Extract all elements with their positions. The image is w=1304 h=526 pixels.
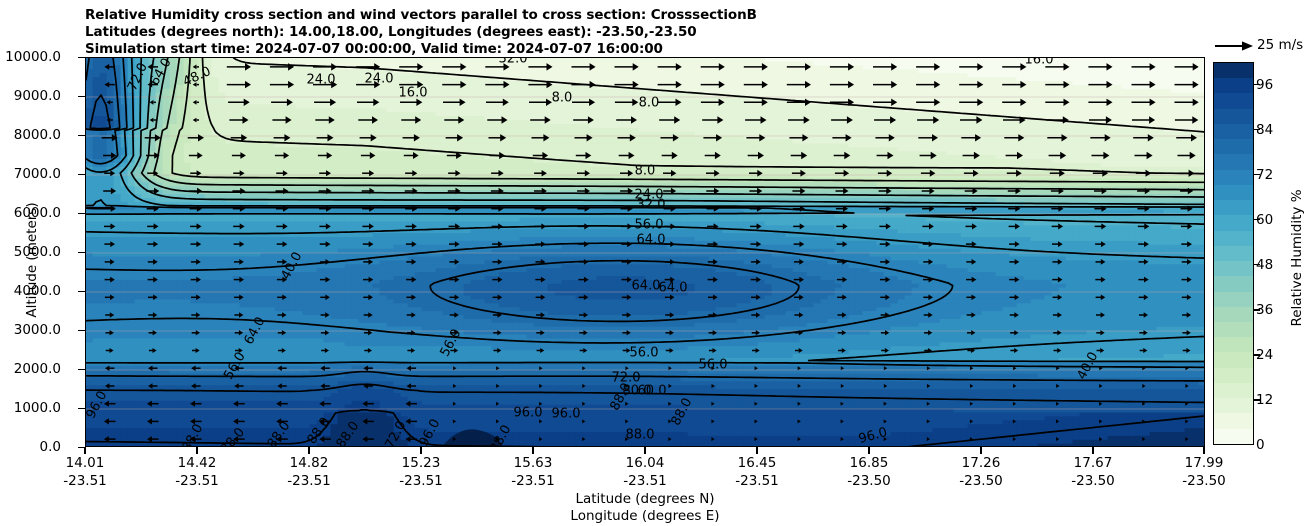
- contour-label: 24.0: [307, 73, 336, 88]
- x-axis-label-longitude: Longitude (degrees E): [0, 508, 1290, 524]
- y-tick-label: 0.0: [40, 439, 61, 455]
- x-tick-label-latitude: 14.01: [66, 455, 105, 471]
- x-tick-label-latitude: 16.45: [738, 455, 777, 471]
- figure-title-line1: Relative Humidity cross section and wind…: [85, 7, 757, 23]
- contour-label: 96.0: [514, 406, 543, 421]
- colorbar-segment: [1214, 124, 1253, 139]
- x-tick-label-longitude: -23.50: [959, 473, 1003, 489]
- colorbar-tick-mark: [1254, 84, 1260, 85]
- colorbar-segment: [1214, 368, 1253, 383]
- y-tick-mark: [78, 174, 85, 175]
- colorbar-tick-mark: [1254, 354, 1260, 355]
- colorbar-segment: [1214, 413, 1253, 428]
- contour-label: 64.0: [637, 233, 666, 248]
- y-tick-label: 7000.0: [14, 166, 61, 182]
- x-tick-mark: [420, 447, 421, 454]
- colorbar-segment: [1214, 429, 1253, 444]
- x-tick-mark: [756, 447, 757, 454]
- figure-title-line2: Latitudes (degrees north): 14.00,18.00, …: [85, 24, 697, 40]
- x-tick-label-longitude: -23.51: [511, 473, 555, 489]
- x-tick-mark: [644, 447, 645, 454]
- x-tick-mark: [84, 447, 85, 454]
- colorbar-segment: [1214, 185, 1253, 200]
- contour-label: 60.0: [638, 384, 667, 399]
- x-tick-label-latitude: 17.67: [1074, 455, 1113, 471]
- colorbar-segment: [1214, 63, 1253, 78]
- x-tick-label-longitude: -23.50: [1182, 473, 1226, 489]
- contour-label: 32.0: [499, 57, 528, 67]
- contour-label: 24.0: [365, 72, 394, 87]
- y-tick-mark: [78, 57, 85, 58]
- x-tick-label-latitude: 17.26: [962, 455, 1001, 471]
- colorbar-tick-mark: [1254, 399, 1260, 400]
- x-axis-label-latitude: Latitude (degrees N): [0, 491, 1290, 507]
- colorbar: [1213, 62, 1254, 445]
- contour-label: 64.0: [659, 281, 688, 296]
- y-tick-label: 5000.0: [14, 244, 61, 260]
- colorbar-tick-mark: [1254, 264, 1260, 265]
- contour-label: 56.0: [635, 218, 664, 233]
- y-tick-label: 4000.0: [14, 283, 61, 299]
- colorbar-segment: [1214, 383, 1253, 398]
- figure-root: Relative Humidity cross section and wind…: [0, 0, 1304, 526]
- colorbar-tick-mark: [1254, 219, 1260, 220]
- colorbar-tick-mark: [1254, 129, 1260, 130]
- x-tick-label-latitude: 17.99: [1185, 455, 1224, 471]
- x-tick-label-longitude: -23.51: [287, 473, 331, 489]
- y-tick-mark: [78, 369, 85, 370]
- colorbar-segment: [1214, 352, 1253, 367]
- contour-label: 56.0: [630, 346, 659, 361]
- colorbar-segment: [1214, 154, 1253, 169]
- y-tick-label: 9000.0: [14, 88, 61, 104]
- x-tick-mark: [196, 447, 197, 454]
- contour-label: 32.0: [637, 198, 666, 213]
- contour-label: 88.0: [626, 428, 655, 443]
- colorbar-segment: [1214, 170, 1253, 185]
- x-tick-mark: [980, 447, 981, 454]
- x-tick-label-longitude: -23.51: [399, 473, 443, 489]
- colorbar-segment: [1214, 78, 1253, 93]
- x-tick-mark: [868, 447, 869, 454]
- y-tick-label: 1000.0: [14, 400, 61, 416]
- y-tick-mark: [78, 252, 85, 253]
- y-tick-label: 3000.0: [14, 322, 61, 338]
- x-tick-label-longitude: -23.51: [63, 473, 107, 489]
- contour-label: 8.0: [639, 96, 660, 111]
- colorbar-segment: [1214, 109, 1253, 124]
- y-tick-mark: [78, 291, 85, 292]
- x-tick-label-latitude: 16.85: [850, 455, 889, 471]
- wind-scale-label: 25 m/s: [1257, 37, 1303, 53]
- colorbar-tick-label: 0: [1256, 437, 1265, 453]
- y-tick-label: 6000.0: [14, 205, 61, 221]
- contour-label: 64.0: [632, 279, 661, 294]
- colorbar-segment: [1214, 93, 1253, 108]
- x-tick-label-latitude: 15.63: [514, 455, 553, 471]
- y-tick-label: 2000.0: [14, 361, 61, 377]
- y-tick-label: 10000.0: [5, 49, 61, 65]
- contour-label: 8.0: [635, 164, 656, 179]
- cross-section-plot-area: 64.072.048.024.024.032.016.016.08.08.08.…: [85, 57, 1205, 447]
- x-tick-label-latitude: 14.82: [290, 455, 329, 471]
- contour-label: 8.0: [552, 91, 573, 106]
- x-tick-mark: [532, 447, 533, 454]
- x-tick-mark: [1092, 447, 1093, 454]
- y-tick-label: 8000.0: [14, 127, 61, 143]
- colorbar-segment: [1214, 231, 1253, 246]
- y-tick-mark: [78, 135, 85, 136]
- colorbar-segment: [1214, 307, 1253, 322]
- x-tick-label-longitude: -23.51: [623, 473, 667, 489]
- y-tick-mark: [78, 96, 85, 97]
- x-tick-label-longitude: -23.50: [847, 473, 891, 489]
- y-tick-mark: [78, 213, 85, 214]
- x-tick-label-latitude: 15.23: [402, 455, 441, 471]
- x-tick-mark: [308, 447, 309, 454]
- contour-label: 56.0: [699, 358, 728, 373]
- contour-label: 16.0: [399, 86, 428, 101]
- contour-label: 16.0: [1025, 57, 1054, 68]
- colorbar-segment: [1214, 276, 1253, 291]
- x-tick-label-latitude: 16.04: [626, 455, 665, 471]
- x-tick-label-longitude: -23.50: [1071, 473, 1115, 489]
- colorbar-segment: [1214, 398, 1253, 413]
- y-tick-mark: [78, 408, 85, 409]
- x-tick-label-latitude: 14.42: [178, 455, 217, 471]
- colorbar-segment: [1214, 139, 1253, 154]
- y-axis-label: Altitude (meters): [24, 180, 40, 340]
- colorbar-segment: [1214, 246, 1253, 261]
- figure-title-line3: Simulation start time: 2024-07-07 00:00:…: [85, 41, 663, 57]
- colorbar-segment: [1214, 292, 1253, 307]
- colorbar-segment: [1214, 337, 1253, 352]
- x-tick-label-longitude: -23.51: [735, 473, 779, 489]
- colorbar-segment: [1214, 200, 1253, 215]
- x-tick-label-longitude: -23.51: [175, 473, 219, 489]
- colorbar-segment: [1214, 215, 1253, 230]
- contour-label: 96.0: [552, 407, 581, 422]
- colorbar-segment: [1214, 322, 1253, 337]
- colorbar-segment: [1214, 261, 1253, 276]
- colorbar-label: Relative Humidity %: [1289, 173, 1304, 343]
- colorbar-tick-mark: [1254, 174, 1260, 175]
- x-tick-mark: [1203, 447, 1204, 454]
- y-tick-mark: [78, 330, 85, 331]
- wind-scale-arrow-icon: [1213, 36, 1253, 56]
- colorbar-tick-mark: [1254, 309, 1260, 310]
